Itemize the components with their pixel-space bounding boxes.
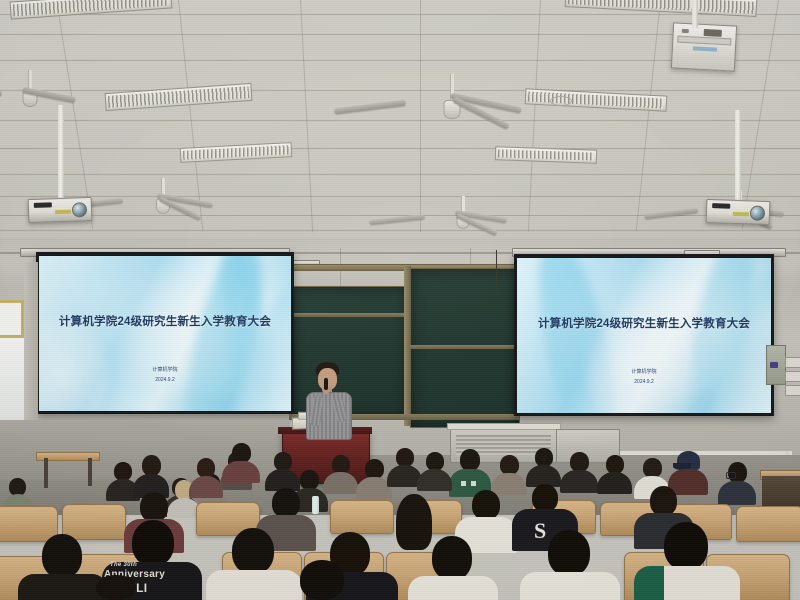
side-desk-leg	[44, 458, 48, 488]
chalkboard-ledge	[289, 313, 407, 317]
wall-outlet[interactable]	[785, 371, 800, 382]
projector-mount-pole	[735, 110, 741, 202]
slide-title: 计算机学院24级研究生新生入学教育大会	[39, 313, 291, 329]
ceiling-equipment-box	[671, 22, 737, 71]
equipment-cabinet-top	[447, 423, 561, 430]
ceiling-fan	[113, 178, 213, 220]
ceiling-projector	[28, 197, 93, 223]
ceiling-mount-pole	[692, 0, 698, 28]
chalkboard-ledge	[410, 345, 518, 349]
board-hanging-wire	[496, 250, 497, 288]
ceiling-fan	[0, 70, 78, 114]
left-window-frame	[0, 300, 24, 338]
water-bottle	[312, 496, 319, 514]
side-desk-leg	[88, 458, 92, 486]
ceiling-fan	[392, 74, 512, 124]
lecture-hall-photo: 计算机学院24级研究生新生入学教育大会 计算机学院 2024.9.2 计算机学院…	[0, 0, 800, 600]
ceiling-fan	[415, 196, 511, 236]
wall-outlet[interactable]	[785, 357, 800, 368]
slide-title: 计算机学院24级研究生新生入学教育大会	[517, 315, 771, 331]
projector-mount-pole	[58, 105, 64, 201]
electrical-panel[interactable]	[766, 345, 786, 385]
lecture-seat[interactable]	[736, 506, 800, 542]
slide-date: 2024.9.2	[517, 379, 771, 385]
shirt-letter: S	[534, 518, 546, 544]
ceiling-smoke-detector	[550, 96, 572, 106]
lecture-seat[interactable]	[62, 504, 126, 540]
lecture-seat[interactable]	[330, 500, 394, 534]
lecture-seat[interactable]	[0, 506, 58, 542]
slide-org: 计算机学院	[517, 368, 771, 375]
left-projection-screen[interactable]: 计算机学院24级研究生新生入学教育大会 计算机学院 2024.9.2	[36, 252, 294, 414]
wall-outlet[interactable]	[785, 385, 800, 396]
microphone	[324, 378, 328, 390]
right-projection-screen[interactable]: 计算机学院24级研究生新生入学教育大会 计算机学院 2024.9.2	[514, 254, 774, 416]
slide-date: 2024.9.2	[39, 377, 291, 383]
slide-org: 计算机学院	[39, 366, 291, 373]
presenter	[300, 362, 356, 434]
ceiling-projector	[706, 199, 771, 225]
baseball-cap	[677, 451, 700, 470]
